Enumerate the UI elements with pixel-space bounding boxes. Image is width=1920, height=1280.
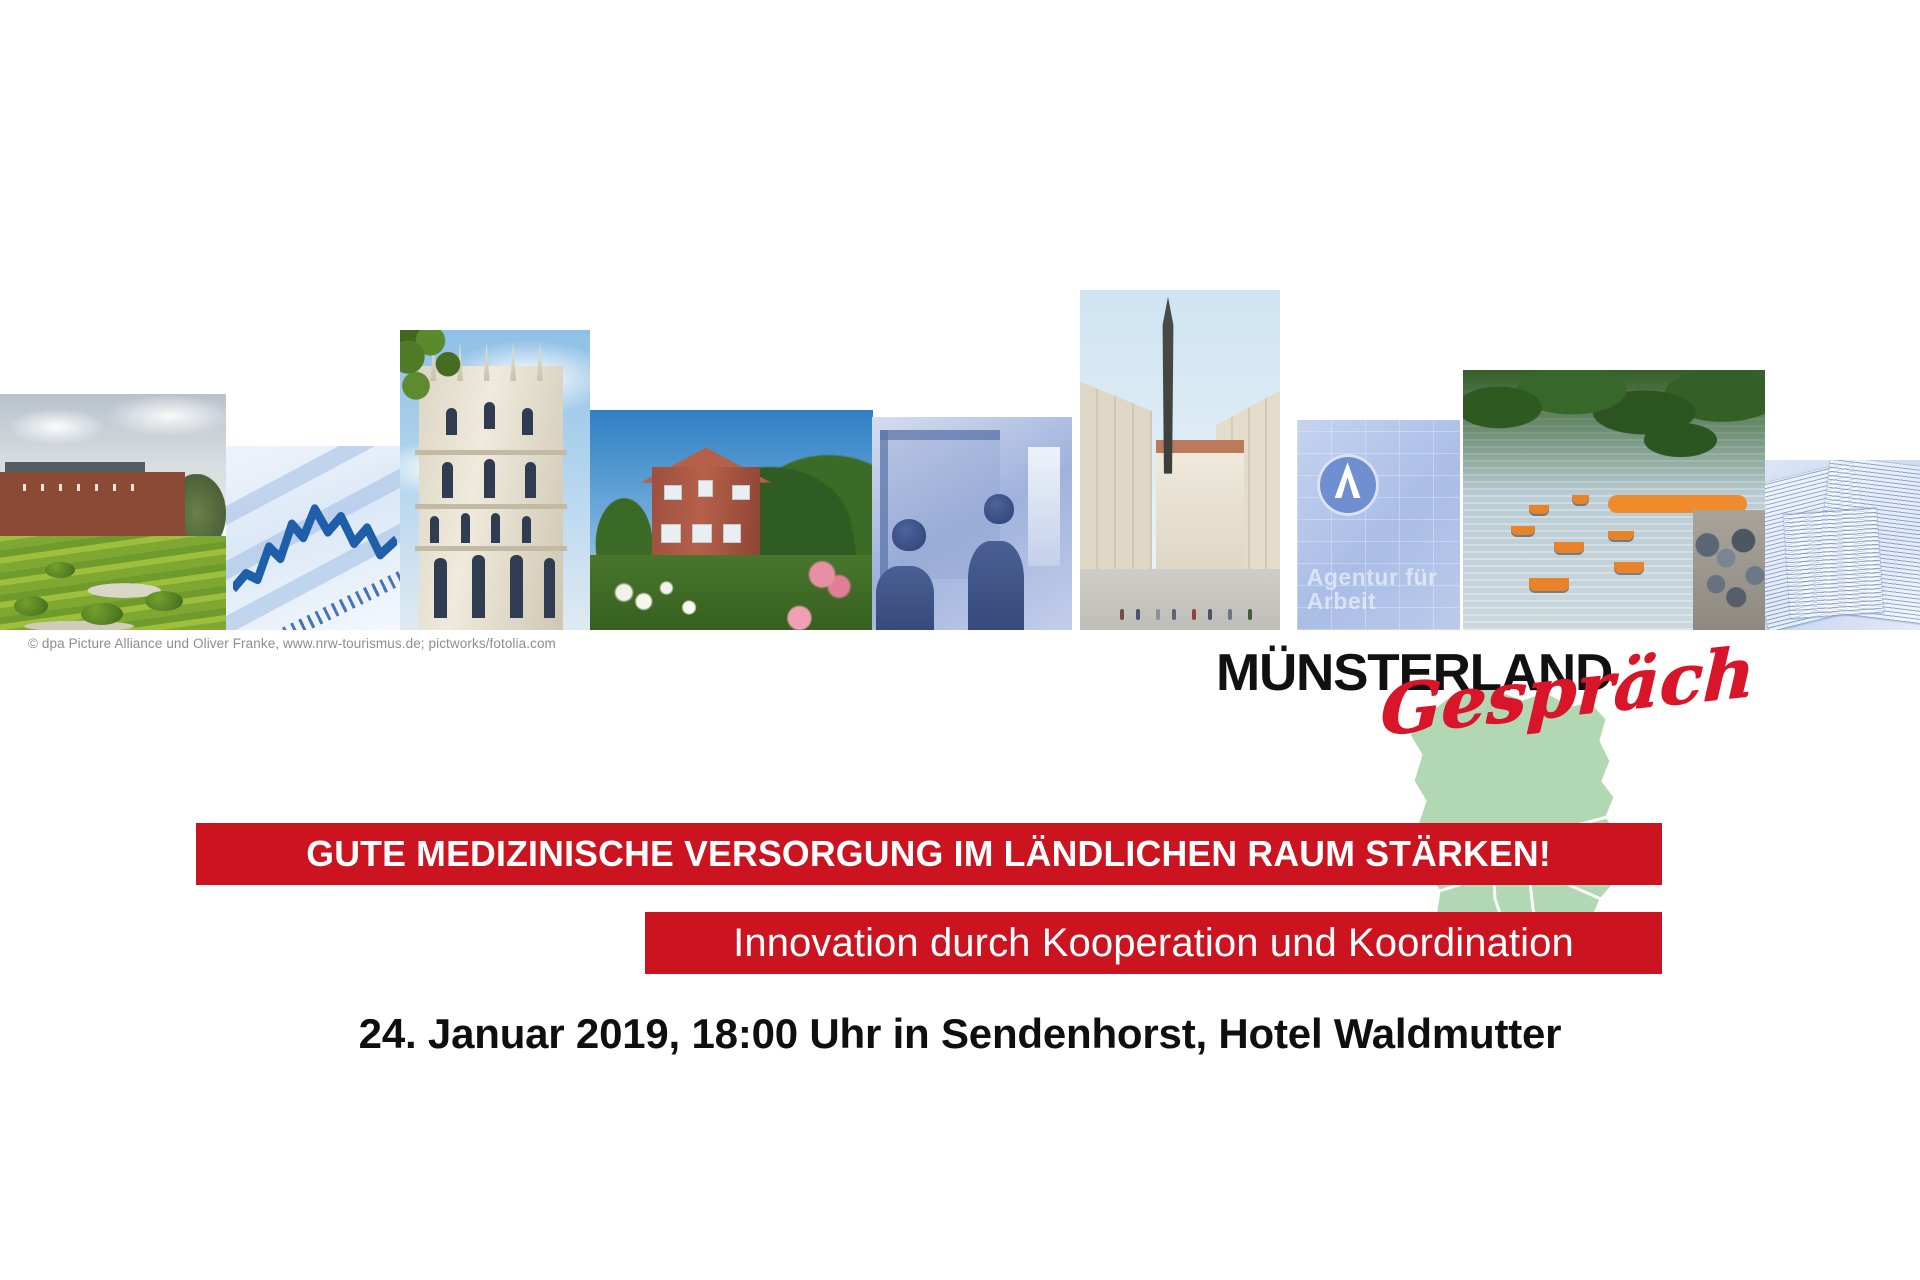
schloss-scene [0, 394, 226, 630]
chart-scene [226, 446, 400, 630]
agentur-scene: Agentur für Arbeit [1297, 420, 1460, 630]
tree-canopy-icon [1463, 370, 1765, 495]
muensterland-gespraech-logo: MÜNSTERLAND Gespräch [1216, 643, 1676, 753]
agentur-label: Agentur für Arbeit [1307, 565, 1460, 613]
agentur-a-logo-icon [1317, 454, 1379, 516]
foliage-icon [400, 330, 472, 420]
castle-facade [0, 472, 185, 543]
strip-panel-statistik-diagramm [226, 446, 400, 630]
strip-panel-aasee-tretboote [1463, 370, 1765, 630]
strip-panel-schloss-nordkirchen [0, 394, 226, 630]
strip-panel-agentur-fuer-arbeit: Agentur für Arbeit [1297, 420, 1460, 630]
flower-bed [590, 555, 873, 630]
subtitle-text: Innovation durch Kooperation und Koordin… [733, 921, 1574, 966]
strip-panel-techniker-werkstatt [872, 417, 1072, 630]
lake-scene [1463, 370, 1765, 630]
strip-panel-prinzipalmarkt-lamberti [1080, 290, 1280, 630]
pedestrian-street [1080, 569, 1280, 630]
strip-panel-historisches-rathaus [400, 330, 590, 630]
photo-credit: © dpa Picture Alliance und Oliver Franke… [28, 636, 556, 651]
headline-banner: GUTE MEDIZINISCHE VERSORGUNG IM LÄNDLICH… [196, 823, 1662, 885]
control-panel [1028, 447, 1060, 566]
strip-panel-zeitung [1765, 460, 1920, 630]
oldtown-scene [1080, 290, 1280, 630]
manor-scene [590, 410, 873, 630]
rathaus-scene [400, 330, 590, 630]
subtitle-banner: Innovation durch Kooperation und Koordin… [645, 912, 1662, 974]
workshop-scene [872, 417, 1072, 630]
strip-panel-backsteinhaus-garten [590, 410, 873, 630]
image-strip: Agentur für Arbeit [0, 270, 1920, 630]
headline-text: GUTE MEDIZINISCHE VERSORGUNG IM LÄNDLICH… [307, 833, 1552, 875]
event-details-line: 24. Januar 2019, 18:00 Uhr in Sendenhors… [0, 1010, 1920, 1058]
newspaper-scene [1765, 460, 1920, 630]
poster-canvas: Agentur für Arbeit [0, 0, 1920, 1280]
crowd [1693, 521, 1765, 630]
